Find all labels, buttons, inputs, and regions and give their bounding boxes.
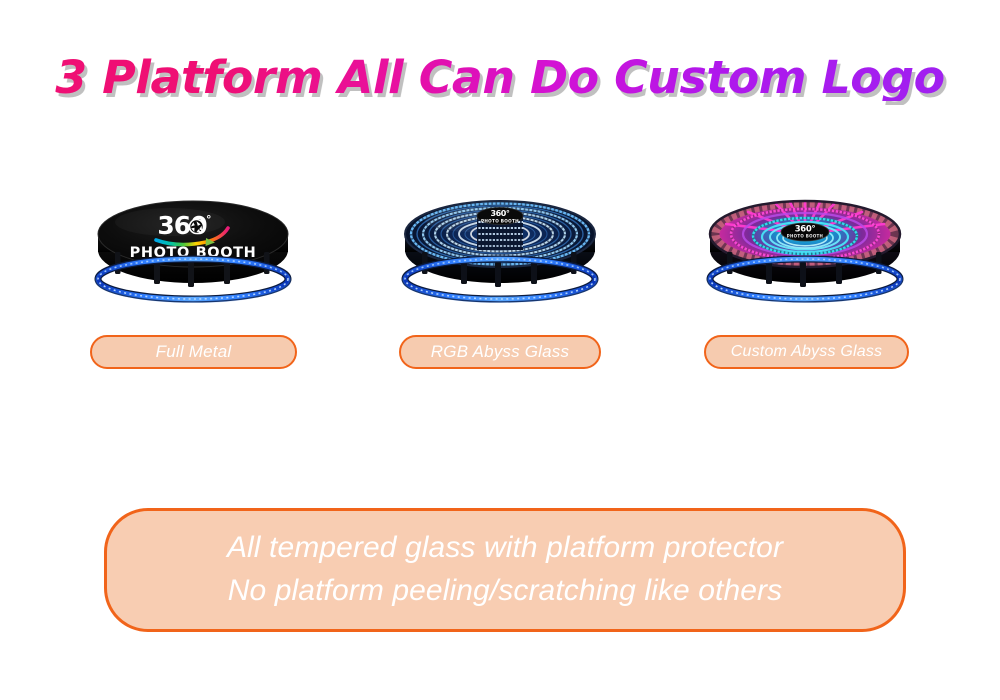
rgb-abyss-glass-platform-image: 360° PHOTO BOOTH xyxy=(385,172,615,322)
marketing-image-canvas: 3 Platform All Can Do Custom Logo xyxy=(0,0,1000,700)
custom-abyss-glass-platform-image: 360° PHOTO BOOTH xyxy=(690,172,920,322)
product-label-text: RGB Abyss Glass xyxy=(431,342,569,362)
svg-text:PHOTO BOOTH: PHOTO BOOTH xyxy=(481,219,519,224)
product-label-full-metal: Full Metal xyxy=(90,335,297,369)
svg-text:PHOTO BOOTH: PHOTO BOOTH xyxy=(787,234,823,239)
product-card-rgb-abyss-glass: 360° PHOTO BOOTH xyxy=(385,172,615,322)
page-title: 3 Platform All Can Do Custom Logo xyxy=(55,54,944,101)
product-label-text: Full Metal xyxy=(156,342,232,362)
logo-360-photo-booth: 360° PHOTO BOOTH xyxy=(781,223,829,241)
feature-banner: All tempered glass with platform protect… xyxy=(104,508,906,632)
full-metal-platform-image: 360 ° PHOTO BOOTH xyxy=(78,172,308,322)
svg-text:360°: 360° xyxy=(490,209,509,218)
center-led-column: 360° PHOTO BOOTH xyxy=(477,208,523,251)
banner-line-2: No platform peeling/scratching like othe… xyxy=(228,570,782,613)
product-gallery: 360 ° PHOTO BOOTH xyxy=(0,172,1000,322)
product-label-rgb-abyss-glass: RGB Abyss Glass xyxy=(399,335,601,369)
product-label-text: Custom Abyss Glass xyxy=(731,343,883,361)
banner-line-1: All tempered glass with platform protect… xyxy=(227,527,783,570)
product-card-full-metal: 360 ° PHOTO BOOTH xyxy=(78,172,308,322)
svg-text:°: ° xyxy=(206,213,212,226)
product-card-custom-abyss-glass: 360° PHOTO BOOTH xyxy=(690,172,920,322)
product-label-custom-abyss-glass: Custom Abyss Glass xyxy=(704,335,909,369)
headline-container: 3 Platform All Can Do Custom Logo xyxy=(0,54,1000,101)
